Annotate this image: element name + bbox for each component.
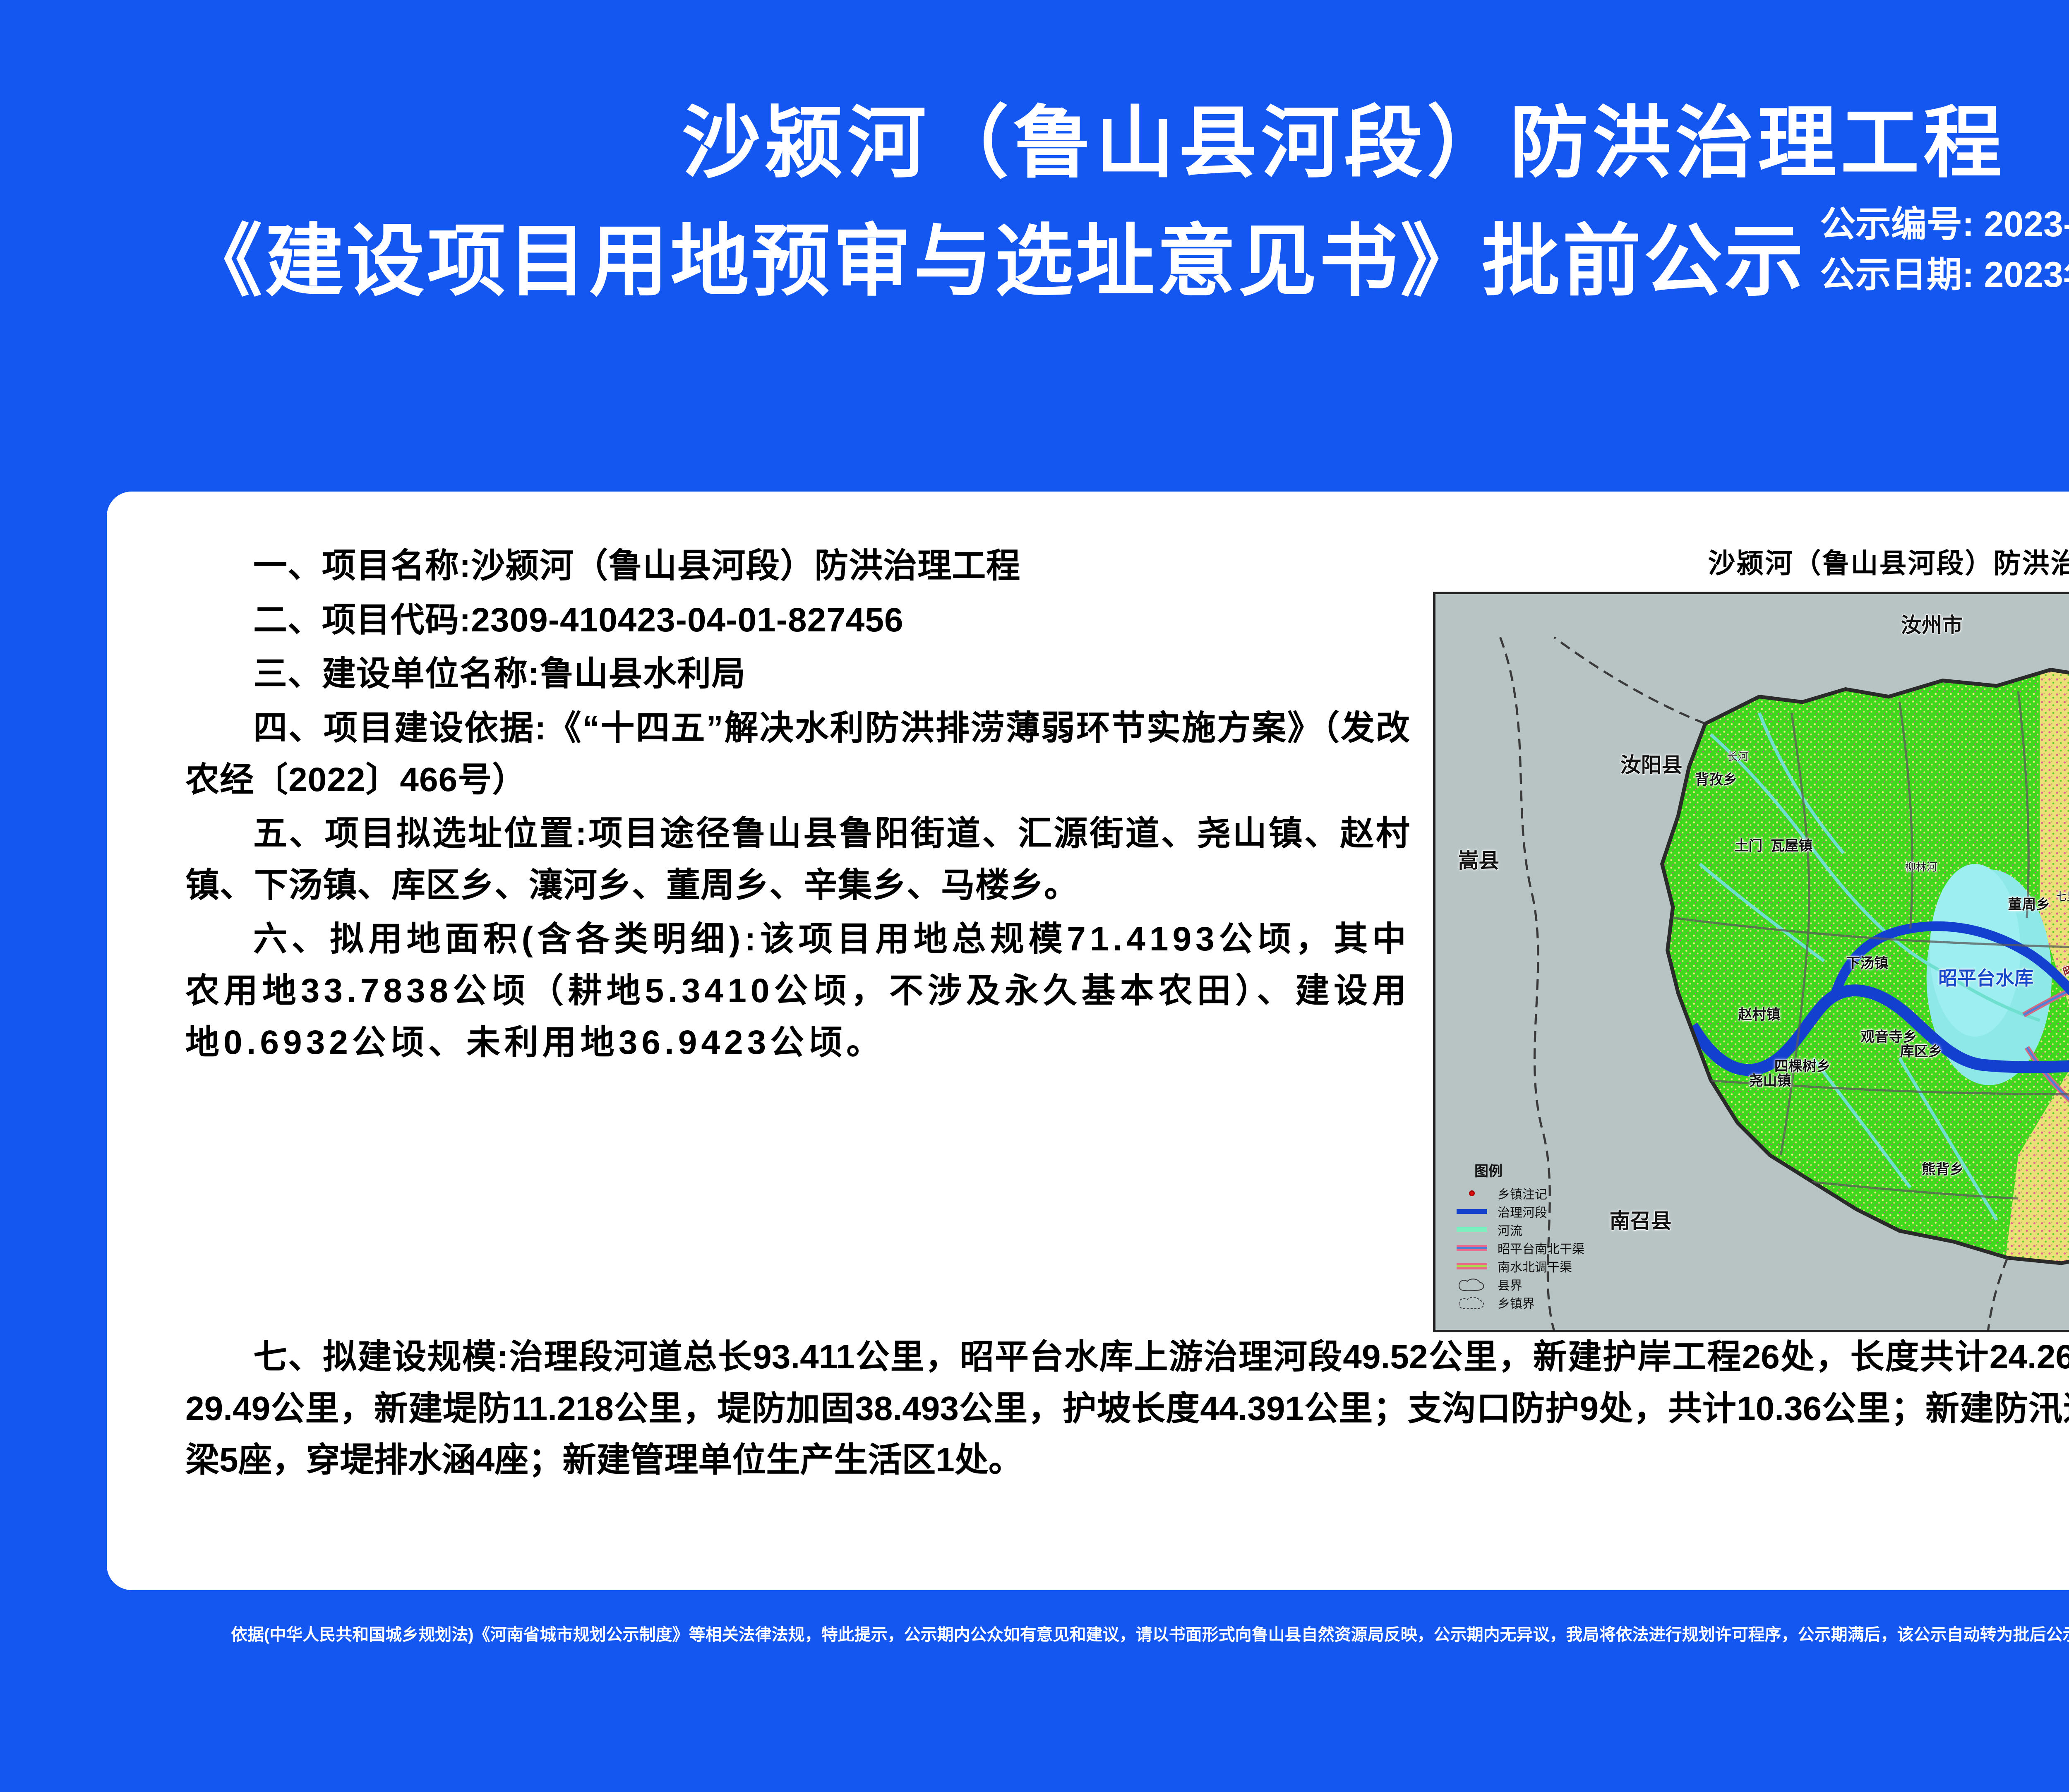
legend-item: 河流 — [1453, 1221, 1647, 1239]
location-map: 沙颍河（鲁山县河段）防洪治理工程位置图 — [1433, 541, 2069, 1332]
map-county-label: 汝阳县 — [1620, 748, 1683, 778]
notice-item-4: 四、项目建设依据:《“十四五”解决水利防洪排涝薄弱环节实施方案》（发改农经〔20… — [185, 703, 1410, 806]
notice-number: 公示编号: 2023-045 — [1820, 199, 2069, 249]
legend-item: 昭平台南北干渠 — [1453, 1239, 1647, 1257]
map-town-label: 瓦屋镇 — [1771, 834, 1813, 854]
content-card: 一、项目名称:沙颍河（鲁山县河段）防洪治理工程 二、项目代码:2309-4104… — [107, 492, 2069, 1590]
legend-item: 县界 — [1453, 1275, 1647, 1293]
map-legend: 图例 乡镇注记 治理河段 河流 — [1453, 1160, 1647, 1312]
legend-item: 乡镇注记 — [1453, 1184, 1647, 1202]
nsbd-canal-line-icon — [1453, 1261, 1491, 1271]
poster-title-line1: 沙颍河（鲁山县河段）防洪治理工程 — [108, 99, 2069, 187]
notice-item-3: 三、建设单位名称:鲁山县水利局 — [185, 648, 1410, 700]
notice-meta: 公示编号: 2023-045 公示日期: 2023年11月28日-2023年12… — [1820, 199, 2069, 306]
poster-title-line2: 《建设项目用地预审与选址意见书》批前公示 — [184, 218, 1806, 306]
poster-footer: 依据(中华人民共和国城乡规划法)《河南省城市规划公示制度》等相关法律法规，特此提… — [0, 1621, 2069, 1645]
map-town-label: 库区乡 — [1900, 1040, 1942, 1060]
treated-reach-line-icon — [1453, 1206, 1491, 1217]
map-town-label: 土门 — [1734, 834, 1762, 854]
notice-item-6: 六、拟用地面积(含各类明细):该项目用地总规模71.4193公顷，其中农用地33… — [185, 914, 1410, 1068]
legend-item-label: 河流 — [1498, 1221, 1522, 1239]
legend-item-label: 昭平台南北干渠 — [1498, 1239, 1584, 1257]
legend-item: 乡镇界 — [1453, 1293, 1647, 1312]
notice-item-2: 二、项目代码:2309-410423-04-01-827456 — [185, 595, 1410, 646]
town-point-icon — [1453, 1188, 1491, 1199]
poster-header: 沙颍河（鲁山县河段）防洪治理工程 《建设项目用地预审与选址意见书》批前公示 公示… — [0, 99, 2069, 306]
map-frame: 汝阳县 南召县 嵩县 汝州市 石龙区 宝丰县 郏县 湛河区 新华区 卫东区 舞钢… — [1433, 592, 2069, 1332]
legend-item: 南水北调干渠 — [1453, 1257, 1647, 1275]
map-river-label: 七里河 — [2056, 888, 2069, 903]
map-county-label: 嵩县 — [1458, 844, 1499, 874]
map-town-label: 背孜乡 — [1695, 768, 1737, 788]
legend-item-label: 县界 — [1498, 1275, 1522, 1293]
zhaopingtai-canal-line-icon — [1453, 1243, 1491, 1253]
map-town-label: 下汤镇 — [1846, 952, 1888, 972]
map-town-label: 赵村镇 — [1738, 1003, 1780, 1024]
notice-item-5: 五、项目拟选址位置:项目途径鲁山县鲁阳街道、汇源街道、尧山镇、赵村镇、下汤镇、库… — [185, 808, 1410, 911]
legend-item-label: 南水北调干渠 — [1498, 1257, 1572, 1275]
public-notice-poster: 沙颍河（鲁山县河段）防洪治理工程 《建设项目用地预审与选址意见书》批前公示 公示… — [0, 0, 2069, 1792]
township-boundary-icon — [1453, 1297, 1491, 1308]
map-reservoir-label: 昭平台水库 — [1938, 963, 2033, 991]
map-county-label: 汝州市 — [1901, 609, 1963, 638]
legend-item: 治理河段 — [1453, 1202, 1647, 1221]
map-title: 沙颍河（鲁山县河段）防洪治理工程位置图 — [1433, 541, 2069, 581]
notice-item-1: 一、项目名称:沙颍河（鲁山县河段）防洪治理工程 — [185, 540, 1410, 592]
map-town-label: 尧山镇 — [1749, 1070, 1791, 1090]
map-river-label: 柳林河 — [1905, 859, 1937, 874]
river-line-icon — [1453, 1224, 1491, 1235]
notice-item-7: 七、拟建设规模:治理段河道总长93.411公里，昭平台水库上游治理河段49.52… — [185, 1331, 2069, 1486]
map-town-label: 熊背乡 — [1922, 1158, 1964, 1178]
notice-date: 公示日期: 2023年11月28日-2023年12月4日 — [1820, 249, 2069, 300]
legend-item-label: 乡镇界 — [1498, 1293, 1535, 1312]
legend-item-label: 乡镇注记 — [1498, 1184, 1547, 1202]
poster-title-line2-row: 《建设项目用地预审与选址意见书》批前公示 公示编号: 2023-045 公示日期… — [108, 199, 2069, 306]
map-town-label: 董周乡 — [2008, 893, 2050, 913]
county-boundary-icon — [1453, 1279, 1491, 1290]
legend-item-label: 治理河段 — [1498, 1202, 1547, 1221]
notice-items-column: 一、项目名称:沙颍河（鲁山县河段）防洪治理工程 二、项目代码:2309-4104… — [185, 540, 1410, 1071]
legend-title: 图例 — [1474, 1160, 1647, 1180]
map-river-label: 长河 — [1727, 748, 1748, 764]
